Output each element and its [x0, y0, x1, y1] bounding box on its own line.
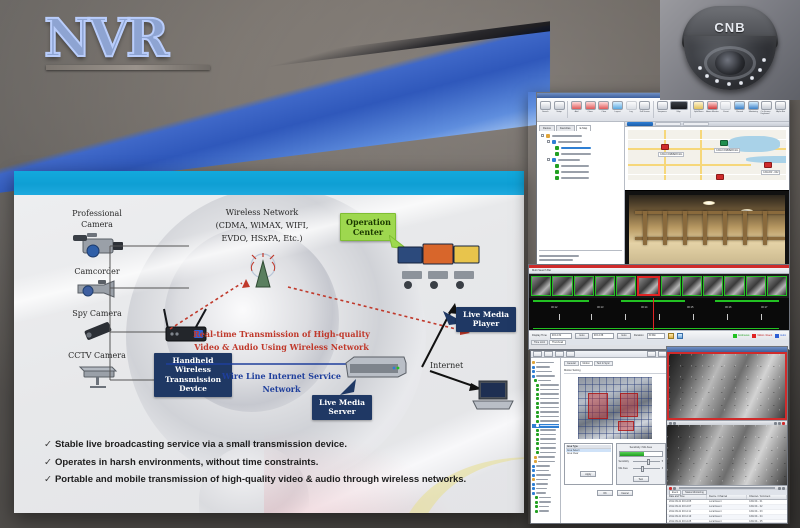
duration-label: Duration: [634, 334, 644, 337]
device-tree-panel[interactable]: Device Favorites E-Map: [537, 122, 625, 268]
expand-icon[interactable]: [547, 158, 550, 161]
timeline-tick: [727, 314, 728, 320]
toolbar-label: Alpha Bar: [776, 111, 785, 113]
sensitivity-slider[interactable]: [633, 460, 660, 464]
cnb-logo: CNB: [714, 20, 745, 35]
camera-dome-bubble: [684, 36, 776, 90]
label-wire-line-internet-line2: Network: [164, 384, 399, 396]
timeline-time-label: 00:14: [641, 306, 648, 309]
test-button[interactable]: Test: [633, 476, 649, 482]
thumbnail-item[interactable]: [574, 276, 594, 296]
tree-node[interactable]: [539, 175, 622, 180]
toolbar-button-alarm-monitor[interactable]: Alarm Monitor: [706, 99, 719, 120]
timeline-tick: [625, 314, 626, 320]
toolbar-label: Alarm Monitor: [706, 111, 718, 113]
log-icon: [626, 101, 637, 110]
tab-time-limit[interactable]: Time Limit: [531, 340, 548, 345]
property-row: [539, 255, 579, 257]
tree-node-label: [561, 165, 589, 167]
label-internet: Internet: [430, 361, 463, 370]
toolbar-label: Clear: [601, 111, 606, 113]
railing-post: [763, 211, 767, 245]
tree-item[interactable]: [532, 473, 559, 477]
thumbnail-item[interactable]: [682, 276, 702, 296]
layout-icon: [612, 101, 623, 110]
tree-item-label: [540, 447, 556, 449]
tree-item-label: [540, 416, 559, 418]
legend-item-audio: Audio: [775, 334, 786, 338]
timeline-tick: [693, 314, 694, 320]
tree-node[interactable]: [539, 157, 622, 162]
thumbnail-item[interactable]: [661, 276, 681, 296]
map-marker-camera[interactable]: [764, 162, 772, 168]
motion-controls-row: Area Type Area Select Area Clear Apply S…: [564, 443, 666, 485]
camera-icon: [536, 411, 539, 414]
badge-live-media-server-line1: Live Media: [319, 398, 365, 407]
setup-toolbar-button[interactable]: [544, 351, 553, 357]
tree-item-label: [540, 407, 559, 409]
tree-node[interactable]: [539, 163, 622, 168]
toolbar-button-search[interactable]: Search: [539, 99, 552, 120]
timeline-tick: [659, 314, 660, 320]
toolbar-button-clear[interactable]: Clear: [597, 99, 610, 120]
label-professional-camera-line2: Camera: [52, 220, 142, 229]
toolbar-button-map[interactable]: Map: [670, 99, 688, 120]
railing-post: [703, 211, 707, 245]
folder-icon: [532, 361, 535, 364]
tree-item[interactable]: [532, 487, 559, 491]
event-video-panel-2[interactable]: [667, 425, 787, 485]
info-icon: [535, 510, 538, 513]
toolbar-separator: [690, 101, 691, 118]
motion-setting-label: Motion Setting: [564, 369, 666, 374]
thumbnail-item[interactable]: [746, 276, 766, 296]
toolbar-button-setup[interactable]: Setup: [553, 99, 566, 120]
tree-item[interactable]: [532, 415, 559, 419]
tree-node[interactable]: [539, 169, 622, 174]
tree-item[interactable]: [532, 392, 559, 396]
export-icon[interactable]: [668, 333, 674, 339]
clear-icon: [598, 101, 609, 110]
setup-toolbar-button[interactable]: [555, 351, 564, 357]
badge-live-media-server-line2: Server: [328, 407, 355, 416]
map-icon: [670, 101, 688, 110]
area-type-list[interactable]: Area Type Area Select Area Clear Apply: [564, 443, 613, 485]
thumbnail-item[interactable]: [703, 276, 723, 296]
cell: CAM 01 - 04: [747, 515, 787, 519]
timeline-legend: Continuous Motion / Event Audio: [733, 334, 786, 338]
tree-node-label: [561, 153, 591, 155]
tree-item[interactable]: [532, 410, 559, 414]
tree-node[interactable]: [539, 151, 622, 156]
tree-item-label: [540, 420, 559, 422]
tree-item[interactable]: [532, 361, 559, 365]
goto-button-2[interactable]: Goto: [617, 333, 631, 339]
setup-toolbar-button[interactable]: [566, 351, 575, 357]
tree-item-label: [536, 366, 550, 368]
sensitivity-row[interactable]: Sensitivity 5: [619, 460, 664, 464]
toolbar-label: Sequence: [658, 111, 667, 113]
slider-knob[interactable]: [647, 459, 650, 465]
monitor-view-area: CAM-COMMERCIAL CAM-COMMERCIAL CAM-FR - 0…: [625, 122, 789, 268]
ir-led-icon: [727, 82, 731, 86]
property-row: [539, 259, 573, 261]
min-area-slider[interactable]: [633, 467, 660, 471]
nvr-text: NVR: [44, 14, 210, 64]
check-icon: ✓: [44, 439, 52, 450]
tree-item[interactable]: [532, 464, 559, 468]
monitor-main-area: Device Favorites E-Map: [537, 122, 789, 268]
motion-level-fill: [620, 452, 645, 456]
toolbar-label: Monitoring: [749, 111, 758, 113]
tree-item[interactable]: [532, 428, 559, 432]
alarm-icon: [534, 456, 537, 459]
tree-item[interactable]: [532, 401, 559, 405]
slider-knob[interactable]: [641, 466, 644, 472]
event-icon: [532, 478, 535, 481]
map-marker-camera[interactable]: [661, 144, 669, 150]
map-road: [628, 164, 751, 166]
setup-main-area: General Motion Text In Sync Motion Setti…: [531, 358, 669, 524]
map-marker-ok[interactable]: [720, 140, 728, 146]
timeline-time-label: 00:16: [725, 306, 732, 309]
toolbar-label: Map: [677, 111, 681, 113]
tree-node[interactable]: [539, 133, 622, 138]
event-video-panel-1[interactable]: [667, 352, 787, 420]
area-apply-button[interactable]: Apply: [580, 471, 596, 477]
tab-motion[interactable]: Motion: [580, 361, 593, 366]
search-icon: [540, 101, 551, 110]
map-marker-label: CAM-FR - 002: [761, 170, 780, 175]
ir-led-icon: [715, 79, 719, 83]
tree-item-label: [536, 375, 555, 377]
toolbar-button-clone[interactable]: Clone: [584, 99, 597, 120]
tree-node-label: [561, 177, 589, 179]
cell: Local Event: [707, 500, 747, 504]
nvr-wordmark: NVR: [44, 14, 210, 70]
legend-item-continuous: Continuous: [733, 334, 750, 338]
timeline-recording-bar: [715, 300, 779, 302]
tree-item-label: [540, 438, 556, 440]
tree-item[interactable]: [532, 370, 559, 374]
ir-led-icon: [698, 66, 702, 70]
tree-item[interactable]: [532, 442, 559, 446]
timeline-panel[interactable]: 00:12 00:13 00:14 00:15 00:16 00:17: [529, 298, 789, 330]
tree-item[interactable]: [532, 482, 559, 486]
alarm-monitor-icon: [707, 101, 718, 110]
setup-toolbar-button[interactable]: [533, 351, 542, 357]
position-value[interactable]: 00:14:38: [592, 333, 614, 339]
label-realtime-transmission-line1: Real-time Transmission of High-quality: [164, 329, 399, 341]
railing-post: [683, 211, 687, 245]
setup-toolbar-button[interactable]: [647, 351, 656, 357]
tree-node[interactable]: [539, 139, 622, 144]
record-icon: [734, 101, 745, 110]
camera-lens-icon: [715, 51, 745, 75]
device-tree-tabs[interactable]: Device Favorites E-Map: [539, 125, 622, 131]
tree-item-label: [540, 411, 559, 413]
tree-item-label: [540, 443, 556, 445]
split-menu-icon: [693, 101, 704, 110]
ir-led-icon: [758, 68, 762, 72]
label-wireless-network-line1: Wireless Network: [182, 207, 342, 219]
tree-item-label: [536, 479, 548, 481]
motion-level-bar: [619, 451, 664, 457]
tree-item[interactable]: [532, 505, 559, 509]
tree-item[interactable]: [532, 379, 559, 383]
legend-label: Continuous: [738, 335, 750, 337]
toolbar-button-add[interactable]: Add: [570, 99, 583, 120]
sequence-icon: [657, 101, 668, 110]
tree-node-label: [561, 147, 591, 149]
toolbar-button-log[interactable]: Log: [625, 99, 638, 120]
label-realtime-transmission-line2: Video & Audio Using Wireless Network: [164, 342, 399, 354]
map-road: [700, 130, 702, 180]
legend-swatch: [775, 334, 779, 338]
tree-item-label: [538, 380, 551, 382]
tree-item-label: [536, 483, 548, 485]
timeline-time-label: 00:12: [551, 306, 558, 309]
tab-general[interactable]: General: [564, 361, 579, 366]
nvr-monitor-window[interactable]: Search Setup Add Clone Clear: [536, 92, 790, 268]
screenshot-root: NVR CNB DIGITAL VIDEO SOLUTION: [0, 0, 800, 528]
tree-item[interactable]: [532, 397, 559, 401]
live-video-scene: [629, 195, 785, 264]
tree-item[interactable]: [532, 388, 559, 392]
tree-item-label: [540, 452, 556, 454]
bullet-text: Operates in harsh environments, without …: [55, 457, 318, 468]
column-header: Channel / Comment: [747, 495, 787, 499]
timeline-tick: [761, 314, 762, 320]
search-window-tabs[interactable]: Time Limit Thumbnail: [529, 340, 789, 345]
thumbnail-item[interactable]: [595, 276, 615, 296]
camera-icon: [555, 146, 559, 150]
event-log-table[interactable]: Event Status Monitoring Date and Time De…: [667, 490, 787, 522]
legend-item-motion: Motion / Event: [752, 334, 772, 338]
tab-device[interactable]: Device: [539, 125, 555, 131]
expand-icon[interactable]: [547, 140, 550, 143]
tree-item[interactable]: [532, 437, 559, 441]
tab-live-emap-1[interactable]: [655, 122, 681, 126]
toolbar-button-layout[interactable]: Layout: [611, 99, 624, 120]
bullet-item: ✓Stable live broadcasting service via a …: [44, 436, 466, 454]
slide-bullet-list: ✓Stable live broadcasting service via a …: [44, 436, 466, 489]
cell: Local Event: [707, 510, 747, 514]
toolbar-label: Split Menu: [694, 111, 703, 113]
operation-center-control-room-icon: [396, 243, 482, 295]
cell: Local Event: [707, 520, 747, 522]
cell: 2012-09-21 00:14:11: [667, 510, 707, 514]
gear-icon: [554, 101, 565, 110]
tree-item[interactable]: [532, 478, 559, 482]
nvr-setup-window[interactable]: General Motion Text In Sync Motion Setti…: [530, 350, 670, 524]
toolbar-button-on-screen-keyboard[interactable]: On Screen Keyboard: [761, 99, 774, 120]
motion-detection-preview[interactable]: [578, 377, 652, 439]
camera-icon: [536, 397, 539, 400]
tree-item[interactable]: [532, 496, 559, 500]
thumbnail-item[interactable]: [724, 276, 744, 296]
table-row[interactable]: 2012-09-21 00:14:25 Local Event CAM 01 -…: [667, 520, 787, 522]
legend-label: Motion / Event: [757, 335, 772, 337]
min-area-row[interactable]: Min Area 3: [619, 467, 664, 471]
duration-select[interactable]: 30 Min: [647, 333, 665, 339]
railing-post: [663, 211, 667, 245]
toolbar-button-record[interactable]: Record: [733, 99, 746, 120]
add-icon: [571, 101, 582, 110]
map-marker-label: CAM-COMMERCIAL: [658, 152, 684, 157]
camera-icon: [555, 176, 559, 180]
tab-favorites[interactable]: Favorites: [556, 125, 575, 131]
tree-item[interactable]: [532, 460, 559, 464]
sensitivity-panel[interactable]: Sensitivity / Min Area Sensitivity: [616, 443, 667, 485]
tree-item[interactable]: [532, 500, 559, 504]
monitor-toolbar[interactable]: Search Setup Add Clone Clear: [537, 98, 789, 122]
toolbar-button-split-menu[interactable]: Split Menu: [692, 99, 705, 120]
motion-zone[interactable]: [588, 393, 608, 419]
group-icon: [552, 140, 556, 144]
nvr-search-window[interactable]: Multi Search Bar 00:12: [528, 264, 790, 350]
tree-properties-section: [539, 250, 622, 261]
tree-item-label: [540, 402, 559, 404]
timeline-playhead[interactable]: [653, 298, 654, 330]
slide-body: Professional Camera Camcorder Spy Camera: [14, 195, 524, 513]
audio-icon: [532, 483, 535, 486]
cancel-button[interactable]: Cancel: [617, 490, 633, 496]
camera-icon: [536, 388, 539, 391]
tree-item-label: [536, 492, 546, 494]
thumbnail-item[interactable]: [767, 276, 787, 296]
railing-post: [743, 211, 747, 245]
camera-icon: [536, 433, 539, 436]
settings-icon[interactable]: [782, 487, 785, 490]
tree-item-label: [539, 497, 551, 499]
tree-item[interactable]: [532, 509, 559, 513]
bullet-item: ✓Portable and mobile transmission of hig…: [44, 471, 466, 489]
goto-button-1[interactable]: Goto: [575, 333, 589, 339]
tree-item-selected[interactable]: [532, 424, 559, 428]
tree-item[interactable]: [532, 419, 559, 423]
display-time-label: Display Time: [532, 334, 547, 337]
live-video-panel[interactable]: [625, 190, 789, 268]
timeline-time-label: 00:17: [761, 306, 768, 309]
tree-node[interactable]: [539, 145, 622, 150]
toolbar-button-monitoring[interactable]: Monitoring: [747, 99, 760, 120]
tree-item[interactable]: [532, 374, 559, 378]
tree-item[interactable]: [532, 365, 559, 369]
badge-live-media-player: Live Media Player: [456, 307, 516, 332]
node-icon: [532, 370, 535, 373]
ok-button[interactable]: OK: [597, 490, 613, 496]
column-header: Device / Channel: [707, 495, 747, 499]
playback-control-bar[interactable]: Display Time 00:14:32 Goto 00:14:38 Goto…: [529, 330, 789, 340]
nvr-event-window[interactable]: Event Status Monitoring Date and Time De…: [666, 346, 788, 524]
serial-icon: [535, 496, 538, 499]
tree-item[interactable]: [532, 451, 559, 455]
event-icon: [720, 101, 731, 110]
thumbnail-item[interactable]: [531, 276, 551, 296]
laptop-icon: [469, 379, 515, 413]
snapshot-icon[interactable]: [778, 487, 781, 490]
thumbnail-item-selected[interactable]: [637, 276, 659, 296]
tree-node-label: [558, 159, 580, 161]
map-canvas[interactable]: CAM-COMMERCIAL CAM-COMMERCIAL CAM-FR - 0…: [628, 130, 786, 180]
tab-live-emap-2[interactable]: [683, 122, 709, 126]
tree-item-label: [540, 425, 559, 427]
setup-tree-panel[interactable]: [531, 358, 561, 524]
motion-zone[interactable]: [618, 421, 634, 431]
label-wireless-network-line3: EVDO, HSxPA, Etc.): [182, 233, 342, 245]
railing-post: [723, 211, 727, 245]
setup-tabs[interactable]: General Motion Text In Sync: [564, 361, 666, 366]
toolbar-label: Log: [629, 111, 632, 113]
tree-item[interactable]: [532, 469, 559, 473]
camera-icon: [536, 451, 539, 454]
tree-item[interactable]: [532, 491, 559, 495]
tree-item[interactable]: [532, 446, 559, 450]
toolbar-label: Full Screen: [640, 111, 650, 113]
thumbnail-item[interactable]: [552, 276, 572, 296]
toolbar-label: Layout: [614, 111, 620, 113]
tab-text-in-sync[interactable]: Text In Sync: [594, 361, 613, 366]
alpha-bar-icon: [775, 101, 786, 110]
toolbar-label: Add: [575, 111, 579, 113]
thumbnail-strip[interactable]: [529, 274, 789, 298]
network-icon: [532, 469, 535, 472]
tree-item-label: [536, 470, 549, 472]
dome-camera-photo: CNB DIGITAL VIDEO SOLUTION: [660, 0, 800, 100]
tab-live-channel[interactable]: [627, 122, 653, 126]
legend-swatch: [733, 334, 737, 338]
legend-label: Audio: [780, 335, 786, 337]
clone-icon: [585, 101, 596, 110]
toolbar-button-sequence[interactable]: Sequence: [656, 99, 669, 120]
legend-swatch: [752, 334, 756, 338]
tree-item[interactable]: [532, 383, 559, 387]
setup-toolbar[interactable]: [531, 351, 669, 358]
motion-zone[interactable]: [620, 393, 638, 417]
tab-emap[interactable]: E-Map: [576, 125, 592, 131]
schedule-icon: [532, 465, 535, 468]
toolbar-button-fullscreen[interactable]: Full Screen: [638, 99, 651, 120]
badge-live-media-player-line1: Live Media: [463, 310, 509, 319]
tree-item-label: [538, 456, 555, 458]
tree-item[interactable]: [532, 455, 559, 459]
thumbnail-item[interactable]: [616, 276, 636, 296]
cell: 2012-09-21 00:14:19: [667, 515, 707, 519]
min-area-label: Min Area: [619, 468, 631, 470]
expand-icon[interactable]: [541, 134, 544, 137]
camera-icon: [555, 152, 559, 156]
tree-item[interactable]: [532, 406, 559, 410]
tree-item[interactable]: [532, 433, 559, 437]
map-marker-camera[interactable]: [716, 174, 724, 180]
emap-view[interactable]: CAM-COMMERCIAL CAM-COMMERCIAL CAM-FR - 0…: [625, 127, 789, 190]
print-icon[interactable]: [677, 333, 683, 339]
setup-dialog-buttons[interactable]: OK Cancel: [564, 490, 666, 496]
motion-setup-panel[interactable]: General Motion Text In Sync Motion Setti…: [561, 358, 669, 524]
toolbar-button-alpha-bar[interactable]: Alpha Bar: [774, 99, 787, 120]
video-seek-bar[interactable]: [679, 487, 775, 489]
tree-node-label: [558, 141, 582, 143]
display-time-value[interactable]: 00:14:32: [550, 333, 572, 339]
tab-thumbnail[interactable]: Thumbnail: [549, 340, 566, 345]
tree-item-label: [540, 389, 559, 391]
timeline-tick: [559, 314, 560, 320]
tree-item-label: [540, 384, 559, 386]
toolbar-button-event[interactable]: Event: [720, 99, 733, 120]
toolbar-label: Clone: [587, 111, 592, 113]
ceiling-light: [703, 201, 715, 205]
